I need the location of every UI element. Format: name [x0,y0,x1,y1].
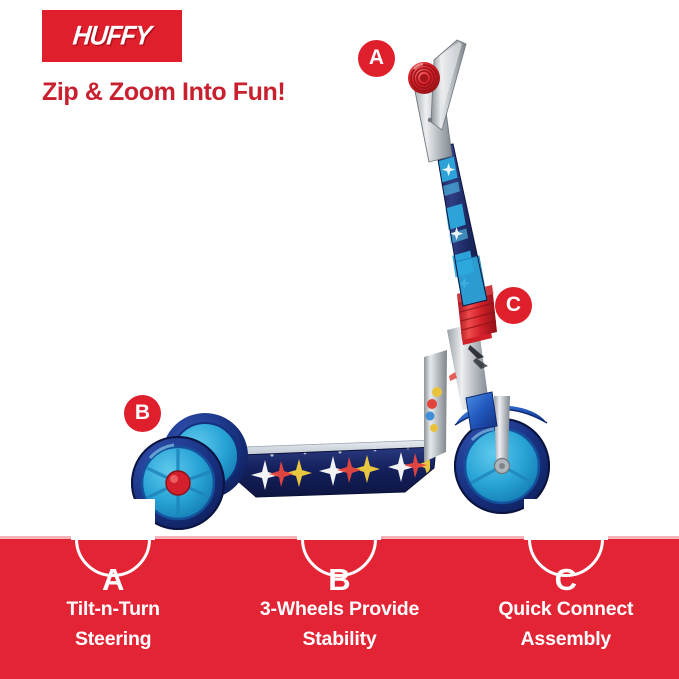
feature-ring-mask-b [297,499,381,540]
feature-text-a-line2: Steering [0,624,226,654]
feature-ring-mask-c [524,499,608,540]
scooter-stem [425,144,492,306]
feature-text-a: Tilt-n-Turn Steering [0,594,226,654]
feature-text-c-line1: Quick Connect [453,594,679,624]
product-marketing-image: HUFFY Zip & Zoom Into Fun! [0,0,679,679]
feature-text-b-line2: Stability [226,624,452,654]
feature-column-b: B 3-Wheels Provide Stability [226,539,452,679]
feature-text-c-line2: Assembly [453,624,679,654]
feature-text-b-line1: 3-Wheels Provide [226,594,452,624]
feature-text-a-line1: Tilt-n-Turn [0,594,226,624]
callout-badge-a: A [358,40,395,77]
scooter-product-image [0,0,679,545]
callout-badge-c-letter: C [506,294,521,315]
feature-ring-letter-a: A [102,564,124,595]
handlebar-grip [408,62,440,94]
callout-badge-b-letter: B [135,402,150,423]
callout-badge-a-letter: A [369,47,384,68]
feature-text-b: 3-Wheels Provide Stability [226,594,452,654]
feature-ring-letter-c: C [555,564,577,595]
feature-column-c: C Quick Connect Assembly [453,539,679,679]
feature-text-c: Quick Connect Assembly [453,594,679,654]
feature-banner-columns: A Tilt-n-Turn Steering B 3-Wheels Provid… [0,539,679,679]
callout-badge-b: B [124,395,161,432]
callout-badge-c: C [495,287,532,324]
feature-ring-letter-b: B [328,564,350,595]
feature-ring-mask-a [71,499,155,540]
feature-column-a: A Tilt-n-Turn Steering [0,539,226,679]
handlebar [408,40,466,162]
scooter-deck [238,440,439,497]
